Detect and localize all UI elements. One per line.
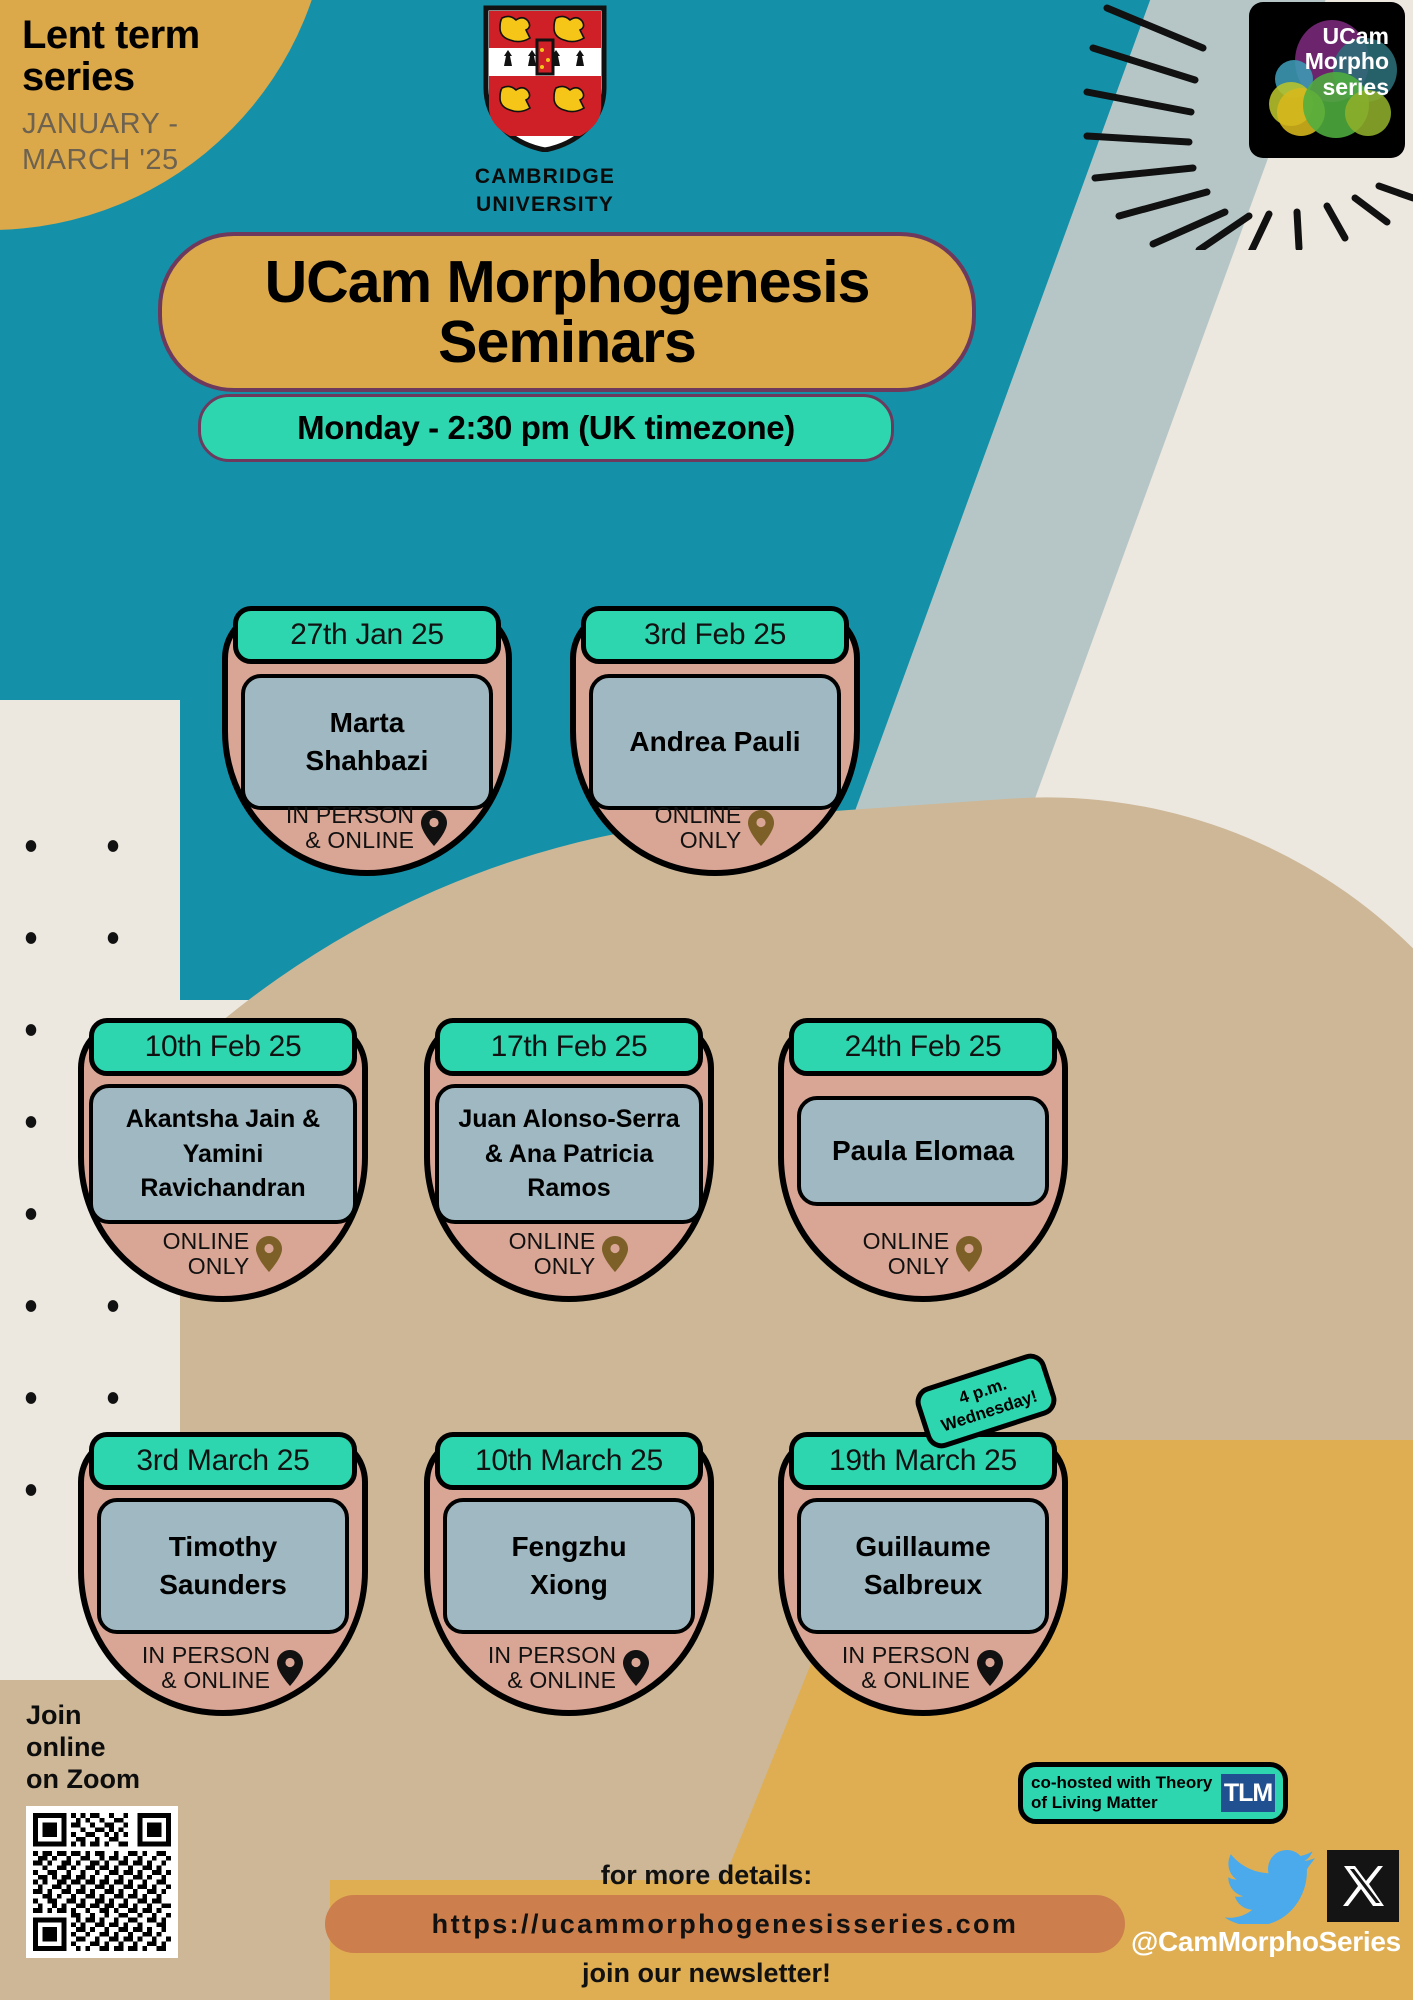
tlm-logo-icon: TLM [1221, 1774, 1275, 1812]
logo-text: UCam Morpho series [1249, 2, 1405, 158]
term-dates-line2: MARCH '25 [22, 144, 179, 176]
speaker-name-line1: Timothy [169, 1531, 277, 1562]
mode-line2: ONLY [188, 1253, 250, 1279]
speaker-name: Marta Shahbazi [306, 704, 429, 780]
speaker-name-box: Fengzhu Xiong [443, 1498, 695, 1634]
mode-line2: ONLY [534, 1253, 596, 1279]
seminar-date-pill: 19th March 25 [789, 1432, 1057, 1490]
poster-subtitle-banner: Monday - 2:30 pm (UK timezone) [198, 394, 894, 462]
mode-line1: ONLINE [863, 1228, 950, 1254]
speaker-name-line2: Yamini [183, 1140, 264, 1168]
seminar-mode-text: IN PERSON & ONLINE [286, 803, 414, 855]
speaker-name-line2: & Ana Patricia [485, 1140, 654, 1168]
ucam-morpho-logo-badge: UCam Morpho series [1249, 2, 1405, 158]
seminar-date: 27th Jan 25 [290, 618, 444, 652]
seminar-date-pill: 24th Feb 25 [789, 1018, 1057, 1076]
logo-line2: Morpho [1305, 48, 1389, 74]
speaker-name-line2: Shahbazi [306, 745, 429, 776]
term-title-line1: Lent term [22, 13, 200, 57]
seminar-card[interactable]: Andrea Pauli ONLINE ONLY 3rd Feb 25 [570, 608, 860, 876]
seminar-date-pill: 10th March 25 [435, 1432, 703, 1490]
seminar-date: 10th Feb 25 [145, 1030, 302, 1064]
seminar-date: 3rd Feb 25 [644, 618, 786, 652]
university-name-line1: CAMBRIDGE [475, 165, 615, 188]
seminar-card[interactable]: Akantsha Jain & Yamini Ravichandran ONLI… [78, 1020, 368, 1302]
cohost-text: co-hosted with Theory of Living Matter [1031, 1773, 1221, 1814]
seminar-date: 17th Feb 25 [491, 1030, 648, 1064]
term-label-block: Lent term series JANUARY - MARCH '25 [22, 14, 322, 179]
speaker-name-box: Andrea Pauli [589, 674, 841, 810]
poster-subtitle: Monday - 2:30 pm (UK timezone) [297, 409, 795, 447]
mode-line1: IN PERSON [286, 802, 414, 828]
location-pin-icon [622, 1649, 650, 1687]
seminar-date-pill: 17th Feb 25 [435, 1018, 703, 1076]
speaker-name: Paula Elomaa [832, 1132, 1014, 1171]
mode-line2: ONLY [680, 827, 742, 853]
zoom-join-text: Join online on Zoom [26, 1700, 206, 1796]
seminar-mode-text: ONLINE ONLY [863, 1229, 950, 1281]
seminar-card[interactable]: Marta Shahbazi IN PERSON & ONLINE 27th J… [222, 608, 512, 876]
seminar-mode: IN PERSON & ONLINE [228, 803, 506, 855]
speaker-name: Juan Alonso-Serra & Ana Patricia Ramos [458, 1102, 679, 1206]
cohost-line2: of Living Matter [1031, 1793, 1158, 1812]
location-pin-icon [976, 1649, 1004, 1687]
mode-line2: & ONLINE [861, 1667, 970, 1693]
social-icons [1131, 1848, 1399, 1924]
speaker-name-line1: Marta [330, 707, 405, 738]
mode-line2: & ONLINE [161, 1667, 270, 1693]
university-name-line2: UNIVERSITY [476, 193, 614, 216]
seminar-mode-text: IN PERSON & ONLINE [142, 1643, 270, 1695]
seminar-date: 3rd March 25 [136, 1444, 309, 1478]
seminar-date: 19th March 25 [829, 1444, 1017, 1478]
zoom-line1: Join [26, 1700, 82, 1730]
seminar-card[interactable]: Guillaume Salbreux IN PERSON & ONLINE 19… [778, 1434, 1068, 1716]
seminar-card[interactable]: Juan Alonso-Serra & Ana Patricia Ramos O… [424, 1020, 714, 1302]
speaker-name-line3: Ramos [527, 1174, 610, 1202]
cohost-line1: co-hosted with Theory [1031, 1773, 1212, 1792]
seminar-date-pill: 27th Jan 25 [233, 606, 501, 664]
seminar-card[interactable]: Timothy Saunders IN PERSON & ONLINE 3rd … [78, 1434, 368, 1716]
location-pin-icon [601, 1235, 629, 1273]
seminar-card[interactable]: Paula Elomaa ONLINE ONLY 24th Feb 25 [778, 1020, 1068, 1302]
speaker-name-line2: Saunders [159, 1569, 287, 1600]
poster-canvas: Lent term series JANUARY - MARCH '25 [0, 0, 1413, 2000]
logo-line3: series [1322, 74, 1389, 100]
seminar-mode: ONLINE ONLY [84, 1229, 362, 1281]
term-title: Lent term series [22, 14, 322, 98]
speaker-name-box: Marta Shahbazi [241, 674, 493, 810]
speaker-name-line1: Guillaume [855, 1531, 990, 1562]
poster-title-line2: Seminars [438, 309, 696, 375]
mode-line1: IN PERSON [842, 1642, 970, 1668]
location-pin-icon [420, 809, 448, 847]
zoom-line3: on Zoom [26, 1764, 140, 1794]
social-handle: @CamMorphoSeries [1131, 1926, 1399, 1958]
website-url: https://ucammorphogenesisseries.com [432, 1909, 1019, 1940]
seminar-mode: IN PERSON & ONLINE [84, 1643, 362, 1695]
speaker-name-line1: Akantsha Jain & [126, 1105, 321, 1133]
mode-line2: ONLY [888, 1253, 950, 1279]
speaker-name: Andrea Pauli [629, 723, 800, 761]
term-dates: JANUARY - MARCH '25 [22, 106, 322, 179]
speaker-name-line2: Xiong [530, 1569, 608, 1600]
seminar-date-pill: 10th Feb 25 [89, 1018, 357, 1076]
seminar-mode-text: ONLINE ONLY [509, 1229, 596, 1281]
social-block: @CamMorphoSeries [1131, 1848, 1399, 1958]
speaker-name-box: Akantsha Jain & Yamini Ravichandran [89, 1084, 357, 1224]
mode-line2: & ONLINE [507, 1667, 616, 1693]
university-branding: CAMBRIDGE UNIVERSITY [470, 4, 620, 220]
seminar-date-pill: 3rd March 25 [89, 1432, 357, 1490]
mode-line1: ONLINE [163, 1228, 250, 1254]
location-pin-icon [276, 1649, 304, 1687]
seminar-date: 24th Feb 25 [845, 1030, 1002, 1064]
seminar-mode-text: ONLINE ONLY [163, 1229, 250, 1281]
newsletter-label: join our newsletter! [0, 1958, 1413, 1989]
seminar-mode-text: IN PERSON & ONLINE [488, 1643, 616, 1695]
twitter-bird-icon[interactable] [1225, 1848, 1317, 1924]
term-dates-line1: JANUARY - [22, 108, 179, 140]
poster-title: UCam Morphogenesis Seminars [265, 252, 870, 372]
seminar-mode: ONLINE ONLY [430, 1229, 708, 1281]
location-pin-icon [747, 809, 775, 847]
seminar-date: 10th March 25 [475, 1444, 663, 1478]
speaker-name-box: Guillaume Salbreux [797, 1498, 1049, 1634]
university-name: CAMBRIDGE UNIVERSITY [470, 163, 620, 220]
speaker-name-line2: Salbreux [864, 1569, 982, 1600]
seminar-date-pill: 3rd Feb 25 [581, 606, 849, 664]
speaker-name: Akantsha Jain & Yamini Ravichandran [126, 1102, 321, 1206]
speaker-name-box: Juan Alonso-Serra & Ana Patricia Ramos [435, 1084, 703, 1224]
location-pin-icon [955, 1235, 983, 1273]
poster-title-banner: UCam Morphogenesis Seminars [158, 232, 976, 392]
mode-line1: IN PERSON [142, 1642, 270, 1668]
location-pin-icon [255, 1235, 283, 1273]
zoom-join-block: Join online on Zoom [26, 1700, 206, 1958]
cohost-badge: co-hosted with Theory of Living Matter T… [1018, 1762, 1288, 1824]
speaker-name-line3: Ravichandran [140, 1174, 305, 1202]
term-title-line2: series [22, 55, 135, 99]
speaker-name-line1: Fengzhu [511, 1531, 626, 1562]
mode-line1: ONLINE [655, 802, 742, 828]
seminar-mode-text: IN PERSON & ONLINE [842, 1643, 970, 1695]
speaker-name: Timothy Saunders [159, 1528, 287, 1604]
seminar-mode: ONLINE ONLY [576, 803, 854, 855]
seminar-mode-text: ONLINE ONLY [655, 803, 742, 855]
x-logo-icon[interactable] [1327, 1850, 1399, 1922]
speaker-name-box: Paula Elomaa [797, 1096, 1049, 1206]
speaker-name: Guillaume Salbreux [855, 1528, 990, 1604]
logo-line1: UCam [1323, 23, 1389, 49]
zoom-line2: online [26, 1732, 106, 1762]
mode-line1: ONLINE [509, 1228, 596, 1254]
speaker-name-box: Timothy Saunders [97, 1498, 349, 1634]
poster-title-line1: UCam Morphogenesis [265, 249, 870, 315]
seminar-mode: IN PERSON & ONLINE [784, 1643, 1062, 1695]
seminar-mode: IN PERSON & ONLINE [430, 1643, 708, 1695]
speaker-name-line1: Juan Alonso-Serra [458, 1105, 679, 1133]
website-url-bar[interactable]: https://ucammorphogenesisseries.com [325, 1895, 1125, 1953]
seminar-mode: ONLINE ONLY [784, 1229, 1062, 1281]
cambridge-crest-icon [480, 4, 610, 152]
speaker-name: Fengzhu Xiong [511, 1528, 626, 1604]
mode-line1: IN PERSON [488, 1642, 616, 1668]
seminar-card[interactable]: Fengzhu Xiong IN PERSON & ONLINE 10th Ma… [424, 1434, 714, 1716]
mode-line2: & ONLINE [305, 827, 414, 853]
